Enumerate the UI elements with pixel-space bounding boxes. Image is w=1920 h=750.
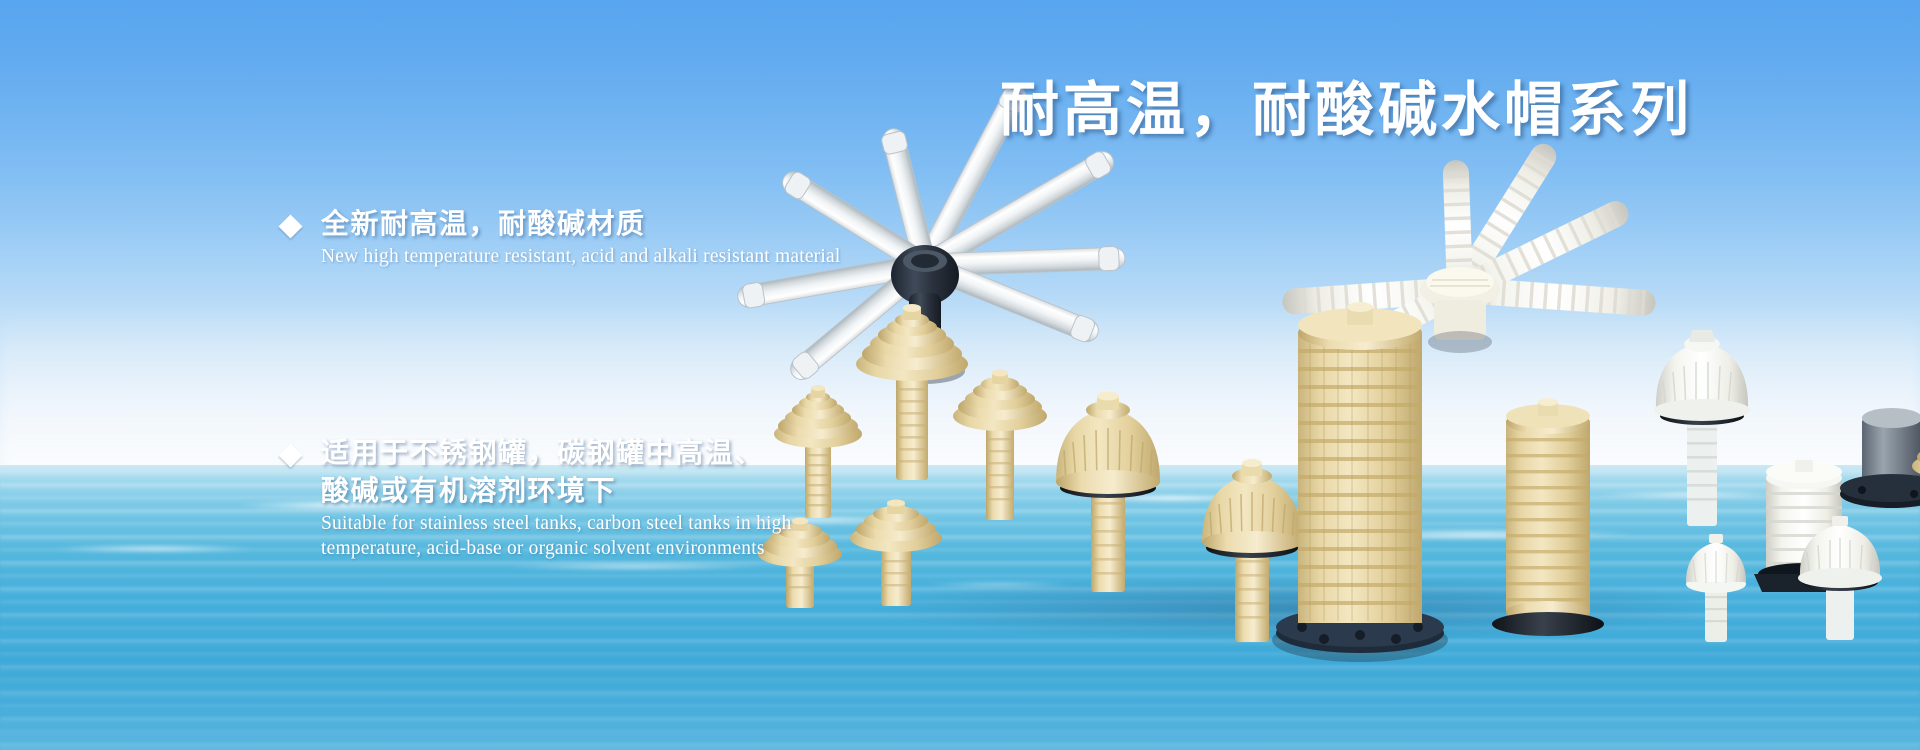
stacked-disc-filter-element [1492,398,1604,636]
feature-list: 全新耐高温，耐酸碱材质 New high temperature resista… [282,205,1002,562]
flanged-column-filter [1272,302,1448,662]
feature-item-2-title-cn: 适用于不锈钢罐，碳钢罐中高温、 酸碱或有机溶剂环境下 [321,434,764,511]
dome-slotted-filter-cap [1654,330,1750,526]
threaded-stem-nozzle [1840,408,1920,508]
feature-item-1-row: 全新耐高温，耐酸碱材质 [282,205,1002,244]
promo-banner: 耐高温，耐酸碱水帽系列 全新耐高温，耐酸碱材质 New high tempera… [0,0,1920,750]
page-title: 耐高温，耐酸碱水帽系列 [1000,62,1693,147]
dome-slotted-filter-cap [1056,392,1160,593]
feature-item-2-subtitle-en: Suitable for stainless steel tanks, carb… [321,512,1002,562]
diamond-bullet-icon [278,214,302,238]
feature-item-1: 全新耐高温，耐酸碱材质 New high temperature resista… [282,205,1002,270]
feature-item-2-row: 适用于不锈钢罐，碳钢罐中高温、 酸碱或有机溶剂环境下 [282,434,1002,511]
diamond-bullet-icon [278,443,302,467]
threaded-stem-nozzle [1686,534,1746,642]
feature-item-2: 适用于不锈钢罐，碳钢罐中高温、 酸碱或有机溶剂环境下 Suitable for … [282,434,1002,562]
feature-item-1-title-cn: 全新耐高温，耐酸碱材质 [321,205,646,244]
feature-item-1-subtitle-en: New high temperature resistant, acid and… [321,245,1002,270]
